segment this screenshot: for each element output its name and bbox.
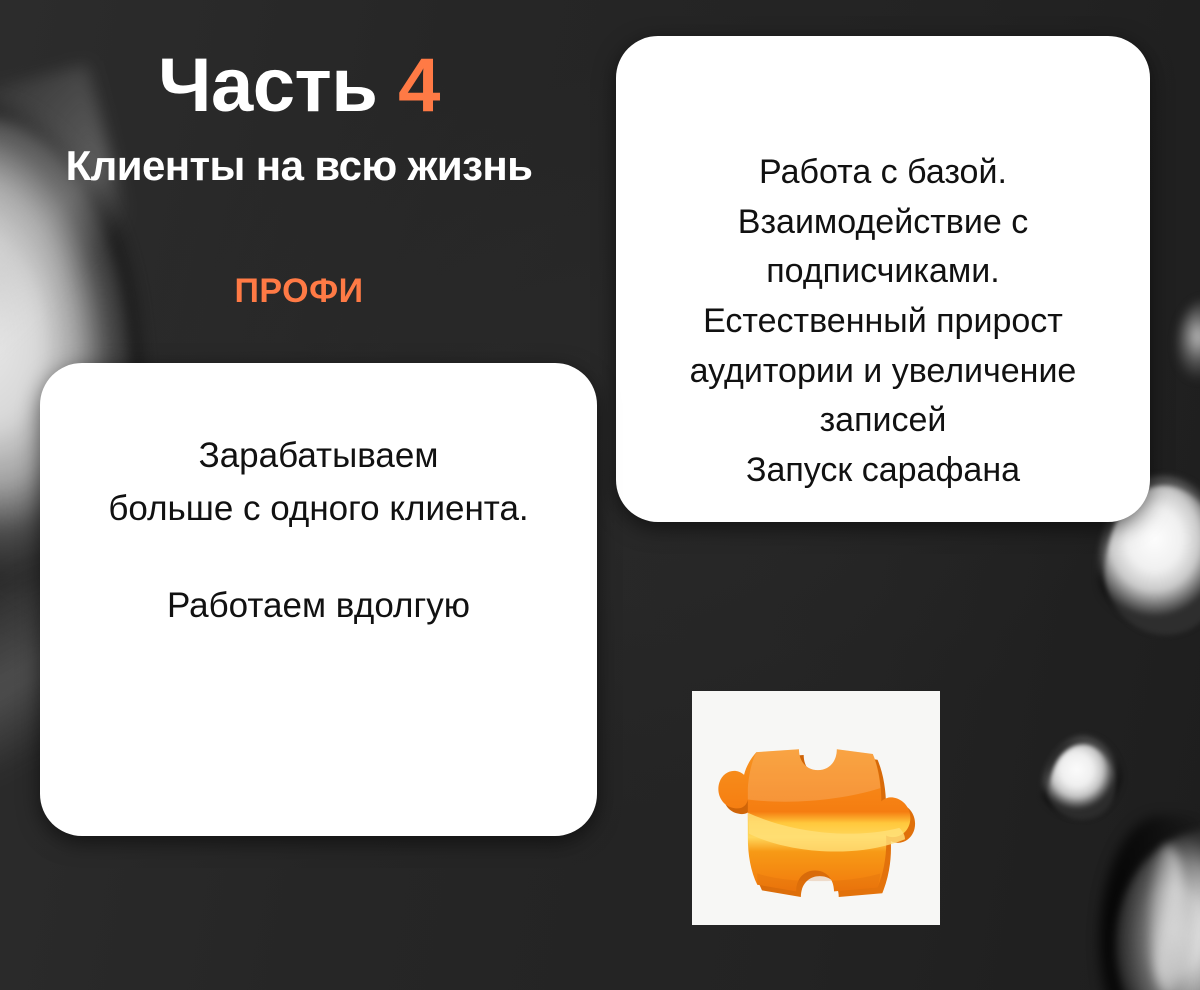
card-right-line-7: Запуск сарафана bbox=[746, 451, 1020, 489]
water-droplet-corner-highlight bbox=[1150, 845, 1186, 990]
card-left-spacer bbox=[108, 535, 528, 579]
content-card-left-text: Зарабатываем больше с одного клиента. Ра… bbox=[108, 429, 528, 633]
card-right-line-3: подписчиками. bbox=[766, 252, 999, 290]
puzzle-piece-image bbox=[692, 691, 940, 925]
page-subtitle: Клиенты на всю жизнь bbox=[0, 144, 598, 188]
page-title: Часть 4 bbox=[0, 48, 598, 124]
card-right-line-5: аудитории и увеличение bbox=[690, 352, 1077, 390]
card-left-line-4: Работаем вдолгую bbox=[167, 586, 470, 625]
card-left-line-1: Зарабатываем bbox=[199, 436, 439, 475]
content-card-right: Работа с базой. Взаимодействие с подписч… bbox=[616, 36, 1150, 522]
card-right-line-2: Взаимодействие с bbox=[738, 203, 1028, 241]
heading-block: Часть 4 Клиенты на всю жизнь bbox=[0, 48, 598, 188]
page-title-number: 4 bbox=[398, 43, 440, 128]
card-left-line-2: больше с одного клиента. bbox=[108, 489, 528, 528]
card-right-line-1: Работа с базой. bbox=[759, 153, 1007, 191]
kicker-label: ПРОФИ bbox=[0, 272, 598, 311]
content-card-right-text: Работа с базой. Взаимодействие с подписч… bbox=[690, 148, 1077, 495]
page-title-word: Часть bbox=[158, 43, 377, 128]
card-right-line-6: записей bbox=[820, 401, 947, 439]
puzzle-piece-icon bbox=[702, 701, 930, 915]
content-card-left: Зарабатываем больше с одного клиента. Ра… bbox=[40, 363, 597, 836]
slide-root: Часть 4 Клиенты на всю жизнь ПРОФИ Работ… bbox=[0, 0, 1200, 990]
card-right-line-4: Естественный прирост bbox=[703, 302, 1063, 340]
